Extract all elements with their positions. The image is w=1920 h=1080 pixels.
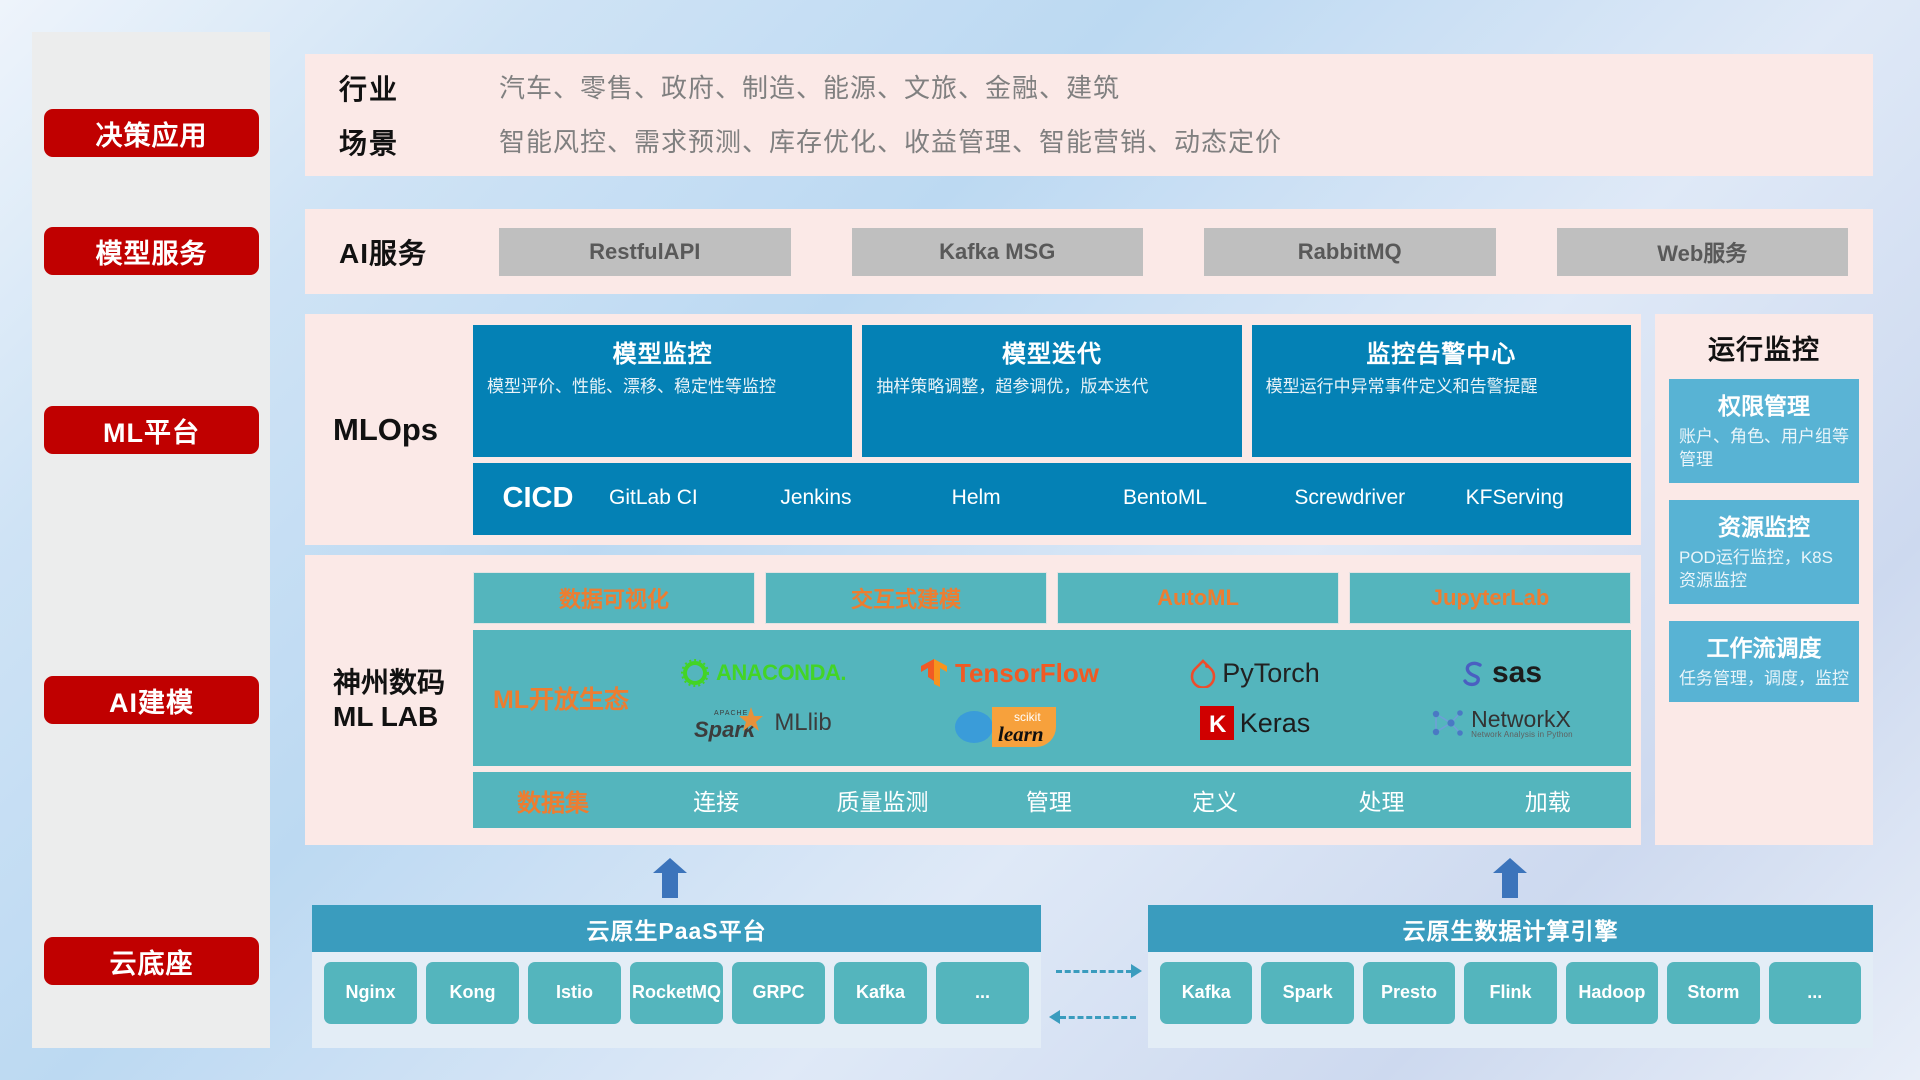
cicd-label: CICD bbox=[473, 482, 603, 515]
dataset-item-load[interactable]: 加载 bbox=[1465, 783, 1631, 817]
engine-chip-hadoop[interactable]: Hadoop bbox=[1566, 962, 1658, 1024]
engine-chip-spark[interactable]: Spark bbox=[1261, 962, 1353, 1024]
monitor-card-permission[interactable]: 权限管理 账户、角色、用户组等管理 bbox=[1669, 379, 1859, 483]
keras-icon: K bbox=[1200, 706, 1234, 740]
cloud-native-data-engine-panel: 云原生数据计算引擎 Kafka Spark Presto Flink Hadoo… bbox=[1148, 905, 1873, 1048]
monitor-card-workflow[interactable]: 工作流调度 任务管理，调度，监控 bbox=[1669, 621, 1859, 702]
connector-right-dash bbox=[1056, 970, 1132, 973]
mlops-card-model-monitoring[interactable]: 模型监控 模型评价、性能、漂移、稳定性等监控 bbox=[473, 325, 852, 457]
rail-item-ml-platform[interactable]: ML平台 bbox=[44, 406, 259, 454]
industry-value: 汽车、零售、政府、制造、能源、文旅、金融、建筑 bbox=[499, 68, 1873, 108]
cicd-item-helm[interactable]: Helm bbox=[946, 486, 1117, 510]
rail-item-ai-modeling[interactable]: AI建模 bbox=[44, 676, 259, 724]
tool-chip-jupyterlab[interactable]: JupyterLab bbox=[1349, 572, 1631, 624]
tool-chip-data-visualization[interactable]: 数据可视化 bbox=[473, 572, 755, 624]
sas-logo: sas bbox=[1460, 656, 1542, 690]
runtime-monitor-column: 运行监控 权限管理 账户、角色、用户组等管理 资源监控 POD运行监控，K8S资… bbox=[1655, 314, 1873, 845]
connector-right-arrowhead bbox=[1131, 964, 1142, 978]
paas-chip-kong[interactable]: Kong bbox=[426, 962, 519, 1024]
card-desc: 任务管理，调度，监控 bbox=[1679, 668, 1849, 691]
monitor-card-resource[interactable]: 资源监控 POD运行监控，K8S资源监控 bbox=[1669, 500, 1859, 604]
pytorch-logo: PyTorch bbox=[1190, 658, 1320, 689]
tensorflow-icon bbox=[919, 657, 949, 689]
mlops-label: MLOps bbox=[305, 412, 473, 448]
engine-chip-kafka[interactable]: Kafka bbox=[1160, 962, 1252, 1024]
dataset-item-define[interactable]: 定义 bbox=[1132, 783, 1298, 817]
tensorflow-wordmark: TensorFlow bbox=[955, 658, 1099, 689]
svg-text:K: K bbox=[1209, 711, 1227, 738]
scenario-value: 智能风控、需求预测、库存优化、收益管理、智能营销、动态定价 bbox=[499, 122, 1873, 162]
anaconda-wordmark: ANACONDA. bbox=[716, 660, 846, 686]
mllib-wordmark: MLlib bbox=[774, 709, 831, 737]
arrow-up-data-engine bbox=[1493, 858, 1527, 898]
engine-chip-more[interactable]: ... bbox=[1769, 962, 1861, 1024]
card-desc: 模型运行中异常事件定义和告警提醒 bbox=[1266, 376, 1617, 399]
paas-chip-kafka[interactable]: Kafka bbox=[834, 962, 927, 1024]
spark-mllib-logo: APACHE Spark MLlib bbox=[694, 703, 831, 743]
service-chip-web[interactable]: Web服务 bbox=[1557, 228, 1849, 276]
dataset-item-connect[interactable]: 连接 bbox=[633, 783, 799, 817]
ml-open-ecosystem: ML开放生态 ANACONDA. bbox=[473, 630, 1631, 766]
paas-chip-istio[interactable]: Istio bbox=[528, 962, 621, 1024]
networkx-wordmark: NetworkX bbox=[1471, 708, 1573, 731]
spark-icon: APACHE Spark bbox=[694, 703, 768, 743]
pytorch-icon bbox=[1190, 658, 1216, 688]
card-title: 权限管理 bbox=[1679, 387, 1849, 421]
runtime-monitor-title: 运行监控 bbox=[1655, 314, 1873, 379]
ml-lab-label: 神州数码 ML LAB bbox=[305, 666, 473, 734]
card-desc: POD运行监控，K8S资源监控 bbox=[1679, 547, 1849, 593]
dataset-item-manage[interactable]: 管理 bbox=[966, 783, 1132, 817]
dataset-label: 数据集 bbox=[473, 783, 633, 818]
data-engine-title: 云原生数据计算引擎 bbox=[1148, 905, 1873, 952]
tool-chip-interactive-modeling[interactable]: 交互式建模 bbox=[765, 572, 1047, 624]
decision-app-band: 行业 汽车、零售、政府、制造、能源、文旅、金融、建筑 场景 智能风控、需求预测、… bbox=[305, 54, 1873, 176]
ai-service-items: RestfulAPI Kafka MSG RabbitMQ Web服务 bbox=[499, 228, 1873, 276]
card-desc: 账户、角色、用户组等管理 bbox=[1679, 426, 1849, 472]
engine-chip-flink[interactable]: Flink bbox=[1464, 962, 1556, 1024]
sas-wordmark: sas bbox=[1492, 656, 1542, 690]
rail-item-cloud-base[interactable]: 云底座 bbox=[44, 937, 259, 985]
arrow-up-paas bbox=[653, 858, 687, 898]
ai-service-band: AI服务 RestfulAPI Kafka MSG RabbitMQ Web服务 bbox=[305, 209, 1873, 294]
paas-chip-grpc[interactable]: GRPC bbox=[732, 962, 825, 1024]
cicd-item-bentoml[interactable]: BentoML bbox=[1117, 486, 1288, 510]
cicd-row: CICD GitLab CI Jenkins Helm BentoML Scre… bbox=[473, 463, 1631, 535]
cloud-native-paas-panel: 云原生PaaS平台 Nginx Kong Istio RocketMQ GRPC… bbox=[312, 905, 1041, 1048]
ai-service-label: AI服务 bbox=[339, 232, 499, 272]
cicd-item-jenkins[interactable]: Jenkins bbox=[774, 486, 945, 510]
networkx-logo: NetworkX Network Analysis in Python bbox=[1429, 706, 1573, 740]
dataset-item-process[interactable]: 处理 bbox=[1298, 783, 1464, 817]
pytorch-wordmark: PyTorch bbox=[1222, 658, 1320, 689]
paas-chip-more[interactable]: ... bbox=[936, 962, 1029, 1024]
mlops-card-list: 模型监控 模型评价、性能、漂移、稳定性等监控 模型迭代 抽样策略调整，超参调优，… bbox=[473, 325, 1631, 457]
paas-chip-nginx[interactable]: Nginx bbox=[324, 962, 417, 1024]
engine-chip-presto[interactable]: Presto bbox=[1363, 962, 1455, 1024]
keras-wordmark: Keras bbox=[1240, 708, 1311, 739]
cicd-item-kfserving[interactable]: KFServing bbox=[1460, 486, 1631, 510]
industry-label: 行业 bbox=[339, 68, 499, 108]
cicd-item-screwdriver[interactable]: Screwdriver bbox=[1288, 486, 1459, 510]
paas-title: 云原生PaaS平台 bbox=[312, 905, 1041, 952]
svg-text:learn: learn bbox=[998, 722, 1044, 746]
card-desc: 模型评价、性能、漂移、稳定性等监控 bbox=[487, 376, 838, 399]
diagram-canvas: 决策应用 模型服务 ML平台 AI建模 云底座 行业 汽车、零售、政府、制造、能… bbox=[0, 0, 1920, 1080]
dataset-row: 数据集 连接 质量监测 管理 定义 处理 加载 bbox=[473, 772, 1631, 828]
service-chip-kafka-msg[interactable]: Kafka MSG bbox=[852, 228, 1144, 276]
mlops-card-model-iteration[interactable]: 模型迭代 抽样策略调整，超参调优，版本迭代 bbox=[862, 325, 1241, 457]
anaconda-logo: ANACONDA. bbox=[680, 658, 846, 688]
cicd-item-gitlab-ci[interactable]: GitLab CI bbox=[603, 486, 774, 510]
card-title: 资源监控 bbox=[1679, 508, 1849, 542]
service-chip-restfulapi[interactable]: RestfulAPI bbox=[499, 228, 791, 276]
tool-chip-automl[interactable]: AutoML bbox=[1057, 572, 1339, 624]
paas-chip-rocketmq[interactable]: RocketMQ bbox=[630, 962, 723, 1024]
card-desc: 抽样策略调整，超参调优，版本迭代 bbox=[876, 376, 1227, 399]
rail-item-decision-app[interactable]: 决策应用 bbox=[44, 109, 259, 157]
scikit-learn-icon: scikit learn bbox=[952, 699, 1067, 747]
mlops-card-alert-center[interactable]: 监控告警中心 模型运行中异常事件定义和告警提醒 bbox=[1252, 325, 1631, 457]
left-rail: 决策应用 模型服务 ML平台 AI建模 云底座 bbox=[32, 32, 270, 1048]
tensorflow-logo: TensorFlow bbox=[919, 657, 1099, 689]
scenario-label: 场景 bbox=[339, 122, 499, 162]
card-title: 模型监控 bbox=[487, 334, 838, 369]
ai-modeling-band: 神州数码 ML LAB 数据可视化 交互式建模 AutoML JupyterLa… bbox=[305, 555, 1641, 845]
networkx-icon bbox=[1429, 706, 1465, 740]
service-chip-rabbitmq[interactable]: RabbitMQ bbox=[1204, 228, 1496, 276]
rail-item-model-service[interactable]: 模型服务 bbox=[44, 227, 259, 275]
keras-logo: K Keras bbox=[1200, 706, 1311, 740]
dataset-item-quality[interactable]: 质量监测 bbox=[799, 783, 965, 817]
card-title: 模型迭代 bbox=[876, 334, 1227, 369]
scikit-learn-logo: scikit learn bbox=[952, 699, 1067, 747]
mlops-band: MLOps 模型监控 模型评价、性能、漂移、稳定性等监控 模型迭代 抽样策略调整… bbox=[305, 314, 1641, 545]
connector-left-arrowhead bbox=[1049, 1010, 1060, 1024]
modeling-tool-list: 数据可视化 交互式建模 AutoML JupyterLab bbox=[473, 572, 1631, 624]
card-title: 监控告警中心 bbox=[1266, 334, 1617, 369]
connector-left-dash bbox=[1060, 1016, 1136, 1019]
svg-text:APACHE: APACHE bbox=[714, 710, 748, 717]
engine-chip-storm[interactable]: Storm bbox=[1667, 962, 1759, 1024]
ml-lab-line2: ML LAB bbox=[333, 700, 473, 734]
ml-lab-line1: 神州数码 bbox=[333, 666, 473, 700]
anaconda-icon bbox=[680, 658, 710, 688]
card-title: 工作流调度 bbox=[1679, 629, 1849, 663]
networkx-tagline: Network Analysis in Python bbox=[1471, 731, 1573, 739]
sas-icon bbox=[1460, 659, 1486, 687]
eco-label: ML开放生态 bbox=[481, 680, 641, 716]
